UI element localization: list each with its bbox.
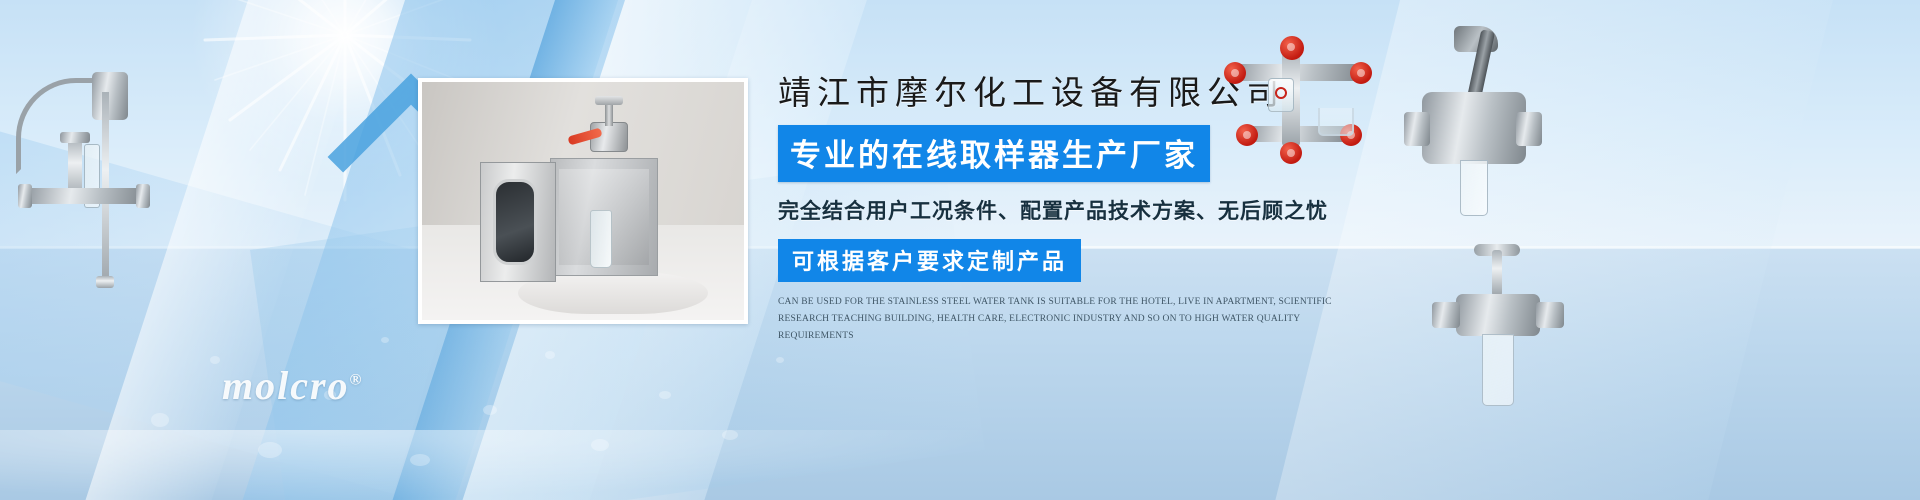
equipment-cross-valve-tree [1218, 42, 1378, 152]
equipment-handwheel-bottom [1280, 142, 1302, 164]
equipment-sample-tube [1460, 160, 1488, 216]
product-photo-image [422, 82, 744, 320]
equipment-valve-nozzle-right [1516, 112, 1542, 146]
equipment-left-sampler-rig [8, 38, 158, 288]
equipment-handwheel-top [1280, 36, 1304, 60]
equipment-pole-foot [96, 276, 114, 288]
equipment-handwheel-left-upper [1224, 62, 1246, 84]
equipment-gauge-sight-glass [1268, 78, 1294, 112]
equipment-flange-top [60, 132, 90, 143]
equipment-flange-right [136, 184, 150, 208]
equipment-valve-body [1422, 92, 1526, 164]
equipment-handwheel-right-upper [1350, 62, 1372, 84]
equipment-bottom-sample-tube [1482, 334, 1514, 406]
equipment-sample-beaker [1318, 108, 1354, 136]
equipment-valve-nozzle-left [1404, 112, 1430, 146]
equipment-gauge-dial [1275, 87, 1287, 99]
equipment-handwheel-left-lower [1236, 124, 1258, 146]
equipment-cross-manifold [26, 188, 144, 204]
sub-headline: 完全结合用户工况条件、配置产品技术方案、无后顾之忧 [778, 195, 1398, 225]
brand-watermark-text: molcro [222, 363, 350, 408]
equipment-drum [92, 72, 128, 120]
registered-trademark-icon: ® [350, 372, 364, 389]
photo-sample-bottle [590, 210, 612, 268]
headline-badge: 专业的在线取样器生产厂家 [778, 125, 1210, 182]
photo-valve-cap [595, 96, 623, 105]
product-photo [418, 78, 748, 324]
equipment-bottom-valve-stem [1492, 250, 1502, 296]
tagline-badge: 可根据客户要求定制产品 [778, 239, 1081, 282]
photo-cabinet-door [480, 162, 556, 282]
photo-door-window [493, 179, 537, 265]
equipment-large-lever-valve [1404, 30, 1544, 230]
equipment-flange-left [18, 184, 32, 208]
equipment-bottom-nozzle-right [1536, 302, 1564, 328]
promo-banner: 靖江市摩尔化工设备有限公司 专业的在线取样器生产厂家 完全结合用户工况条件、配置… [0, 0, 1920, 500]
equipment-bottom-nozzle-left [1432, 302, 1460, 328]
equipment-bottom-sampling-valve [1434, 250, 1562, 420]
english-blurb: CAN BE USED FOR THE STAINLESS STEEL WATE… [778, 294, 1378, 344]
brand-watermark: molcro® [222, 362, 364, 409]
equipment-bottom-valve-body [1456, 294, 1540, 336]
